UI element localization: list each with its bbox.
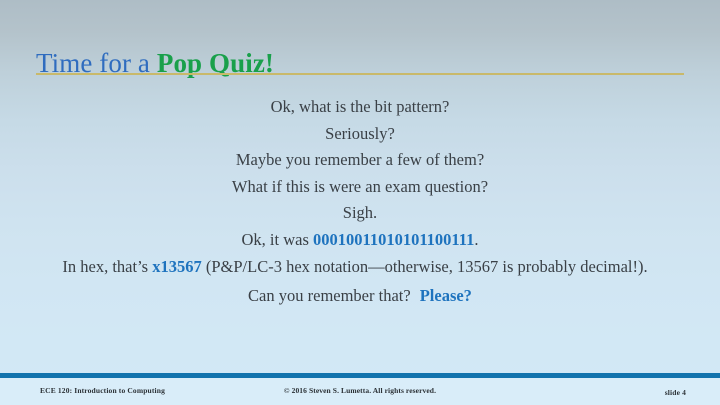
body-line-7-suffix: (P&P/LC-3 hex notation—otherwise, 13567 … (202, 257, 648, 276)
body-line-6-prefix: Ok, it was (242, 230, 314, 249)
body-line-6-suffix: . (474, 230, 478, 249)
title-divider-rule (36, 73, 684, 75)
slide-canvas: Time for a Pop Quiz! Ok, what is the bit… (0, 0, 720, 405)
body-line-4: What if this is were an exam question? (36, 174, 684, 201)
body-line-5: Sigh. (36, 200, 684, 227)
body-line-3: Maybe you remember a few of them? (36, 147, 684, 174)
hex-value: x13567 (152, 257, 202, 276)
footer-slide-number: slide 4 (665, 388, 686, 397)
body-line-2: Seriously? (36, 121, 684, 148)
body-line-6: Ok, it was 00010011010101100111. (36, 227, 684, 254)
please-emphasis: Please? (420, 286, 472, 305)
slide-footer: ECE 120: Introduction to Computing © 201… (0, 378, 720, 405)
body-line-8-prefix: Can you remember that? (248, 286, 411, 305)
body-line-1: Ok, what is the bit pattern? (36, 94, 684, 121)
body-line-7-prefix: In hex, that’s (62, 257, 152, 276)
body-line-7: In hex, that’s x13567 (P&P/LC-3 hex nota… (36, 257, 684, 277)
body-line-8: Can you remember that?Please? (36, 283, 684, 310)
binary-value: 00010011010101100111 (313, 230, 474, 249)
footer-copyright-label: © 2016 Steven S. Lumetta. All rights res… (0, 386, 720, 395)
slide-body: Ok, what is the bit pattern? Seriously? … (36, 94, 684, 310)
